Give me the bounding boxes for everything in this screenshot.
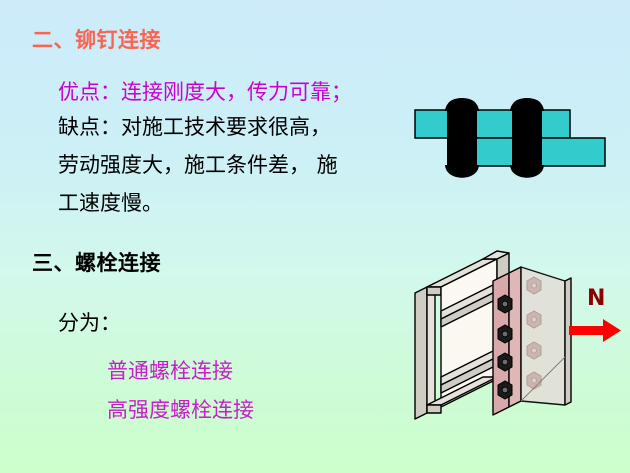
bottom-flange-edge xyxy=(427,405,441,413)
bolt-front-2 xyxy=(498,325,512,343)
bolt-type-high-strength: 高强度螺栓连接 xyxy=(107,400,254,421)
bolt-intro-line: 分为： xyxy=(58,313,121,334)
bolt-type-ordinary: 普通螺栓连接 xyxy=(107,361,233,382)
bolt-diagram-svg: N xyxy=(405,245,630,430)
top-flange-edge xyxy=(427,287,441,295)
bolt-front-1 xyxy=(498,295,512,313)
beam-plate-edge xyxy=(565,278,571,405)
force-arrow-icon xyxy=(569,319,621,342)
bolt-back-3 xyxy=(527,342,541,359)
rivet-1-shank xyxy=(447,107,477,169)
rivet-diagram-svg xyxy=(405,85,630,190)
section-heading-bolt: 三、螺栓连接 xyxy=(32,253,161,274)
rivet-drawback-line-1: 缺点：对施工技术要求很高， xyxy=(58,117,331,138)
rivet-2-head-bottom xyxy=(510,165,544,178)
rivet-2-shank xyxy=(512,107,542,169)
rivet-1-head-top xyxy=(445,98,479,111)
rivet-2-head-top xyxy=(510,98,544,111)
rivet-drawback-line-3: 工速度慢。 xyxy=(58,193,163,214)
bolt-back-2 xyxy=(527,311,541,328)
near-flange-face xyxy=(427,283,435,413)
rivet-drawback-line-2: 劳动强度大，施工条件差， 施 xyxy=(58,155,338,176)
slide-canvas: 二、铆钉连接 优点：连接刚度大，传力可靠； 缺点：对施工技术要求很高， 劳动强度… xyxy=(0,0,630,473)
near-flange-side xyxy=(415,287,427,419)
rivet-top-plate xyxy=(415,110,570,138)
bolt-back-1 xyxy=(527,277,541,294)
bolt-front-3 xyxy=(498,353,512,371)
section-heading-rivet: 二、铆钉连接 xyxy=(32,30,161,51)
force-label-N: N xyxy=(587,286,605,311)
rivet-lap-joint-diagram xyxy=(405,85,630,190)
bolt-back-4 xyxy=(527,372,541,389)
rivet-advantage-line: 优点：连接刚度大，传力可靠； xyxy=(58,82,352,103)
rivet-1-head-bottom xyxy=(445,165,479,178)
bolted-end-plate-connection-diagram: N xyxy=(405,245,630,430)
bolt-front-4 xyxy=(498,381,512,399)
